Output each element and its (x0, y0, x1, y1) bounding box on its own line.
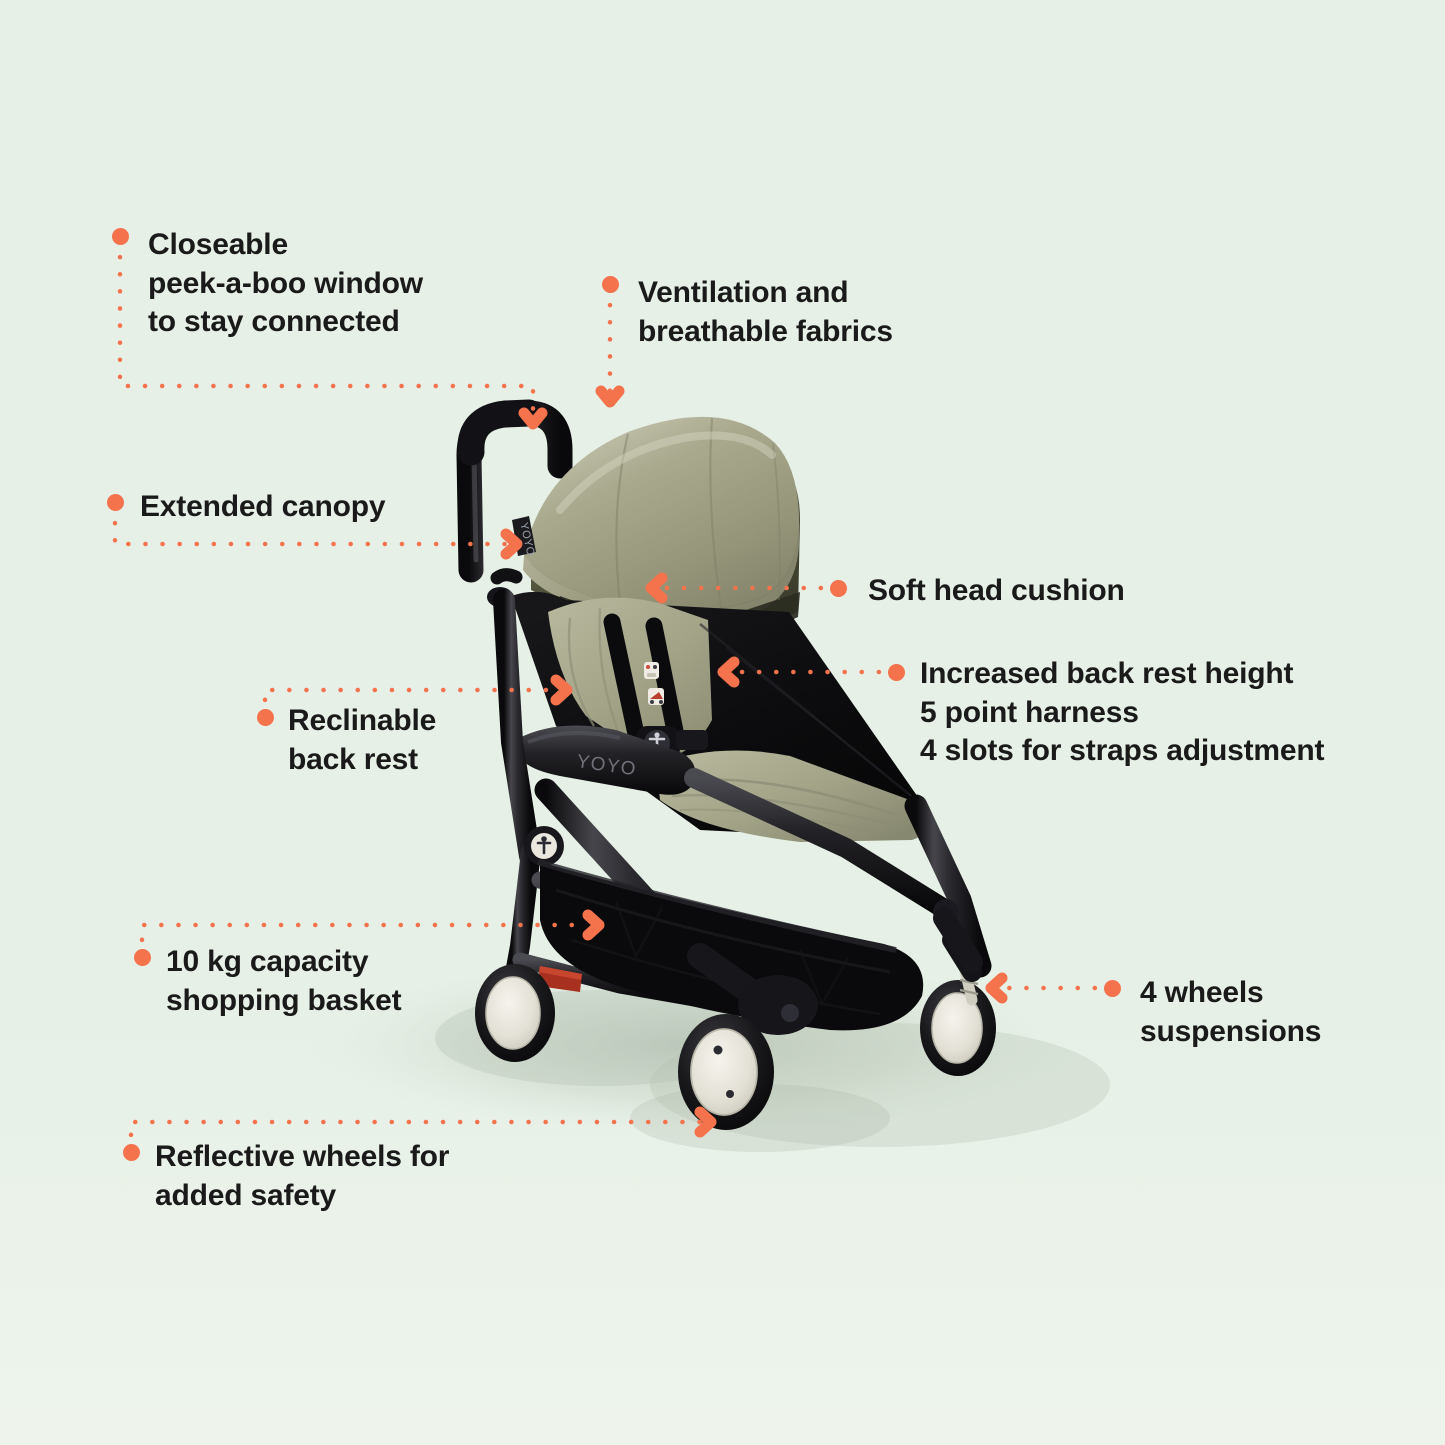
callout-dot-back-rest-height (888, 664, 905, 681)
callout-dot-extended-canopy (107, 494, 124, 511)
callout-dot-shopping-basket (134, 949, 151, 966)
callout-dot-soft-head-cushion (830, 580, 847, 597)
callout-label-back-rest-height: Increased back rest height 5 point harne… (920, 655, 1440, 771)
callout-label-peek-a-boo-window: Closeable peek-a-boo window to stay conn… (148, 226, 568, 342)
callout-label-soft-head-cushion: Soft head cushion (868, 572, 1328, 611)
callout-dot-peek-a-boo-window (112, 228, 129, 245)
callout-dot-reclinable-back-rest (257, 709, 274, 726)
callout-label-ventilation: Ventilation and breathable fabrics (638, 274, 1038, 351)
callout-dot-ventilation (602, 276, 619, 293)
callout-dot-wheels-suspensions (1104, 980, 1121, 997)
callout-label-reclinable-back-rest: Reclinable back rest (288, 702, 618, 779)
callout-label-wheels-suspensions: 4 wheels suspensions (1140, 974, 1440, 1051)
infographic-canvas: YOYO (0, 0, 1445, 1445)
callout-label-extended-canopy: Extended canopy (140, 488, 560, 527)
callout-label-reflective-wheels: Reflective wheels for added safety (155, 1138, 575, 1215)
callout-label-shopping-basket: 10 kg capacity shopping basket (166, 943, 526, 1020)
callout-dot-reflective-wheels (123, 1144, 140, 1161)
